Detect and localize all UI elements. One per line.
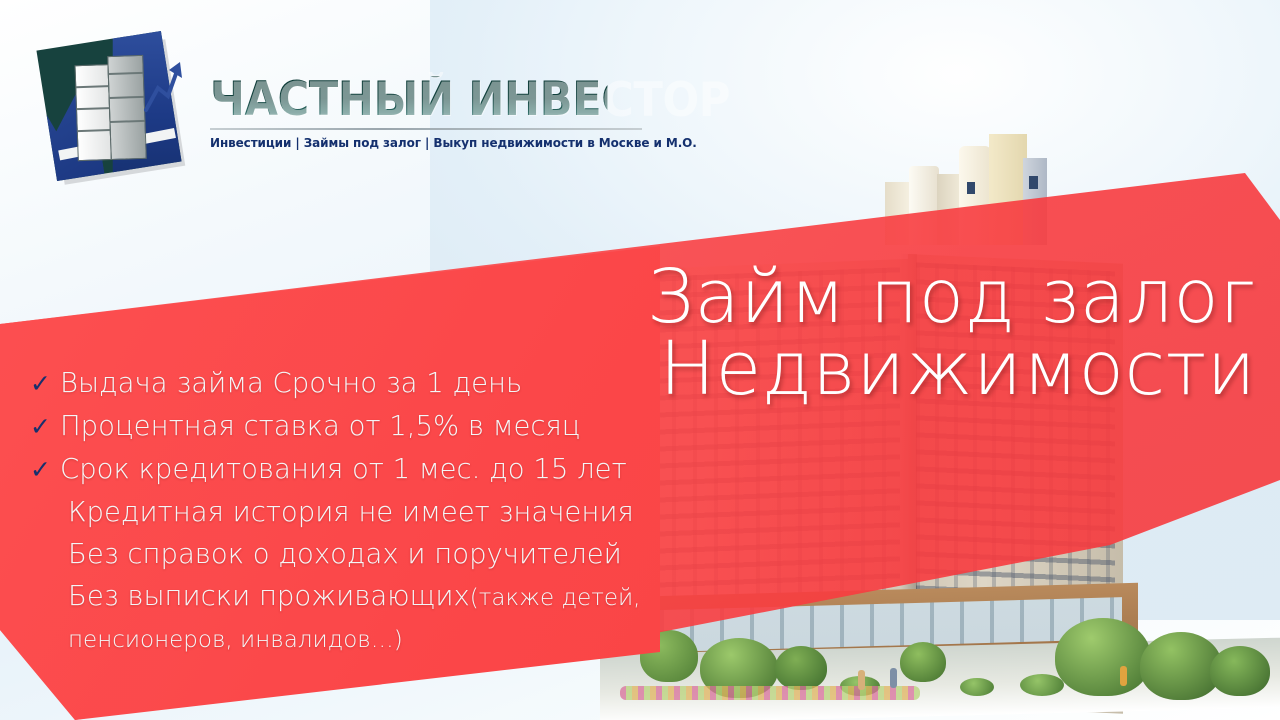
logo-building-right-wing: [107, 55, 147, 160]
list-item-label: Без выписки проживающих: [68, 575, 470, 617]
brand-divider: [210, 128, 642, 130]
rooftop-window: [1029, 176, 1038, 189]
page-title-line-2: Недвижимости: [647, 334, 1256, 406]
list-item-label: пенсионеров, инвалидов…): [68, 619, 403, 661]
benefits-list: ✓ Выдача займа Срочно за 1 день ✓ Процен…: [30, 362, 710, 661]
check-icon: ✓: [30, 449, 60, 491]
pedestrian: [890, 668, 897, 688]
list-item: ✓ Процентная ставка от 1,5% в месяц: [30, 405, 710, 448]
logo-building-icon: [74, 55, 148, 161]
pedestrian: [858, 670, 865, 690]
brand-logo[interactable]: ЧАСТНЫЙ ИНВЕСТОР Инвестиции | Займы под …: [42, 32, 642, 192]
tree: [1055, 618, 1151, 696]
shrub: [1020, 674, 1064, 696]
list-item-label: Срок кредитования от 1 мес. до 15 лет: [60, 448, 627, 490]
list-item-label: Без справок о доходах и поручителей: [68, 533, 622, 575]
shrub: [960, 678, 994, 696]
logo-growth-arrow-icon: [142, 58, 184, 114]
list-item: ✓ Срок кредитования от 1 мес. до 15 лет: [30, 448, 710, 491]
check-icon: ✓: [30, 363, 60, 405]
tree: [1210, 646, 1270, 696]
list-item-label: Кредитная история не имеет значения: [68, 491, 634, 533]
logo-building-left-wing: [74, 64, 111, 161]
tree: [775, 646, 827, 690]
list-item-label-continuation: (также детей,: [470, 577, 641, 619]
page-title: Займ под залог Недвижимости: [647, 262, 1256, 406]
brand-name: ЧАСТНЫЙ ИНВЕСТОР: [210, 76, 607, 123]
tree: [900, 642, 946, 682]
building-chart-logo-icon: [42, 36, 194, 188]
banner-canvas: ЧАСТНЫЙ ИНВЕСТОР Инвестиции | Займы под …: [0, 0, 1280, 720]
list-item: ✓ Выдача займа Срочно за 1 день: [30, 362, 710, 405]
brand-tagline: Инвестиции | Займы под залог | Выкуп нед…: [210, 135, 625, 150]
brand-text-block: ЧАСТНЫЙ ИНВЕСТОР Инвестиции | Займы под …: [210, 76, 642, 150]
list-item-label: Процентная ставка от 1,5% в месяц: [60, 405, 581, 447]
list-item: Без выписки проживающих (также детей,: [30, 575, 710, 619]
rooftop-window: [967, 182, 975, 194]
pedestrian: [1120, 666, 1127, 686]
list-item: Кредитная история не имеет значения: [30, 491, 710, 533]
list-item: Без справок о доходах и поручителей: [30, 533, 710, 575]
list-item-label: Выдача займа Срочно за 1 день: [60, 362, 522, 404]
flower-bed: [620, 686, 920, 700]
list-item: пенсионеров, инвалидов…): [30, 619, 710, 661]
check-icon: ✓: [30, 406, 60, 448]
